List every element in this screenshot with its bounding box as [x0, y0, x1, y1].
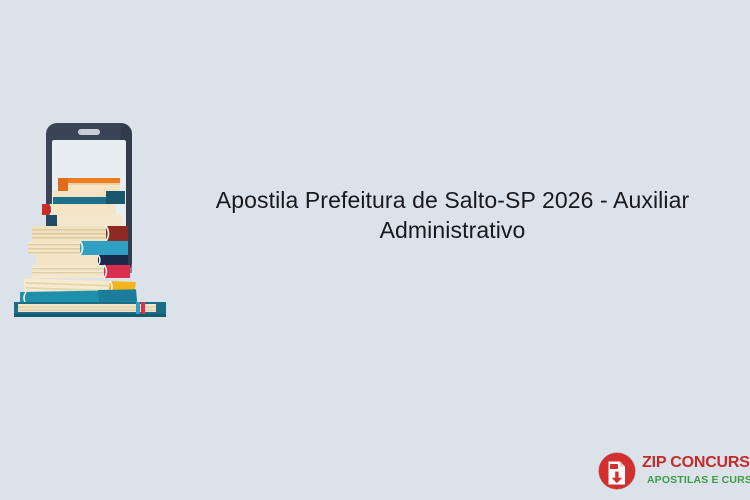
stack-of-books-with-tablet-illustration	[6, 118, 176, 318]
bookmark-blue	[136, 302, 140, 314]
hero-section: Apostila Prefeitura de Salto-SP 2026 - A…	[0, 110, 750, 320]
brand-tagline: APOSTILAS E CURSOS	[642, 474, 750, 487]
book-orange-top	[58, 178, 120, 191]
book-blue-middle	[28, 241, 128, 255]
brand-name: ZIP CONCURSOS	[642, 455, 750, 472]
promo-banner: Apostila Prefeitura de Salto-SP 2026 - A…	[0, 0, 750, 500]
illustration-container	[0, 110, 175, 320]
book-darkred-middle	[32, 226, 128, 241]
page-title: Apostila Prefeitura de Salto-SP 2026 - A…	[203, 185, 703, 246]
book-base-bottom	[14, 302, 166, 317]
brand-text-block: ZIP CONCURSOS APOSTILAS E CURSOS	[642, 455, 750, 486]
pdf-download-circle-icon	[598, 452, 636, 490]
book-darknavy-middle	[36, 255, 128, 265]
title-container: Apostila Prefeitura de Salto-SP 2026 - A…	[175, 185, 750, 246]
book-navy-upper	[47, 215, 123, 226]
book-red-upper	[42, 204, 116, 215]
book-pink-lower	[32, 265, 130, 278]
book-teal-upper	[53, 191, 125, 204]
bookmark-red	[141, 302, 145, 314]
brand-logo[interactable]: ZIP CONCURSOS APOSTILAS E CURSOS	[598, 448, 740, 494]
